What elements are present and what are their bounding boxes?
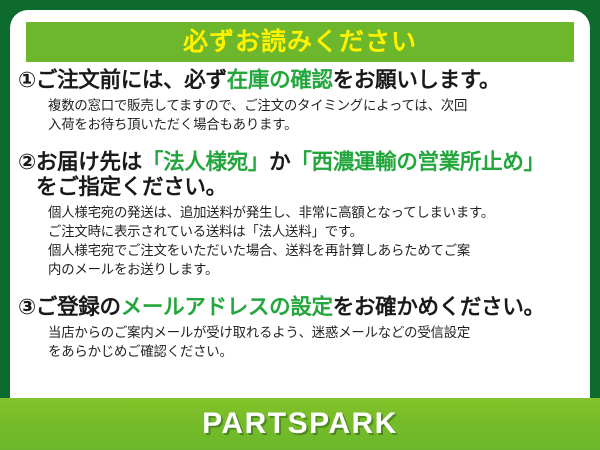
item-3-heading-part-3: をお確かめください。 — [333, 295, 545, 319]
item-1-heading-part-1: ご注文前には、必ず — [36, 68, 227, 92]
item-2-heading-highlight-1: 「法人様宛」 — [142, 150, 269, 174]
item-1-heading-highlight: 在庫の確認 — [227, 68, 333, 92]
item-3-body-line-1: 当店からのご案内メールが受け取れるよう、迷惑メールなどの受信設定 — [48, 323, 584, 342]
item-2-body-line-3: 個人様宅宛でご注文をいただいた場合、送料を再計算しあらためてご案 — [48, 241, 584, 260]
footer-banner: PARTSPARK — [0, 398, 600, 450]
notice-card: 必ずお読みください ①ご注文前には、必ず在庫の確認をお願いします。 複数の窓口で… — [0, 0, 600, 450]
item-1-heading-part-3: をお願いします。 — [333, 68, 500, 92]
notice-body: ①ご注文前には、必ず在庫の確認をお願いします。 複数の窓口で販売してますので、ご… — [10, 68, 590, 361]
item-1-body-line-2: 入荷をお待ち頂いただく場合もあります。 — [48, 115, 584, 134]
item-2-marker: ② — [18, 150, 36, 174]
notice-item-3: ③ご登録のメールアドレスの設定をお確かめください。 当店からのご案内メールが受け… — [10, 295, 590, 361]
item-3-heading-highlight: メールアドレスの設定 — [121, 295, 333, 319]
item-2-body-line-4: 内のメールをお送りします。 — [48, 260, 584, 279]
header-banner: 必ずお読みください — [26, 22, 574, 62]
item-1-body: 複数の窓口で販売してますので、ご注文のタイミングによっては、次回 入荷をお待ち頂… — [18, 96, 584, 134]
page-title: 必ずお読みください — [183, 30, 417, 55]
item-3-heading-part-1: ご登録の — [36, 295, 121, 319]
item-2-body-line-1: 個人様宅宛の発送は、追加送料が発生し、非常に高額となってしまいます。 — [48, 203, 584, 222]
item-3-marker: ③ — [18, 295, 36, 319]
item-3-body: 当店からのご案内メールが受け取れるよう、迷惑メールなどの受信設定 をあらかじめご… — [18, 323, 584, 361]
item-1-marker: ① — [18, 68, 36, 92]
item-3-body-line-2: をあらかじめご確認ください。 — [48, 342, 584, 361]
notice-panel: 必ずお読みください ①ご注文前には、必ず在庫の確認をお願いします。 複数の窓口で… — [10, 10, 590, 408]
item-2-body-line-2: ご注文時に表示されている送料は「法人送料」です。 — [48, 222, 584, 241]
item-2-heading: ②お届け先は「法人様宛」か「西濃運輸の営業所止め」 をご指定ください。 — [18, 150, 584, 200]
item-2-heading-part-1: お届け先は — [36, 150, 142, 174]
brand-wordmark: PARTSPARK — [202, 409, 398, 439]
item-1-heading: ①ご注文前には、必ず在庫の確認をお願いします。 — [18, 68, 584, 93]
item-2-heading-continuation: をご指定ください。 — [18, 175, 584, 200]
item-2-heading-part-3: か — [269, 150, 290, 174]
item-3-heading: ③ご登録のメールアドレスの設定をお確かめください。 — [18, 295, 584, 320]
item-2-body: 個人様宅宛の発送は、追加送料が発生し、非常に高額となってしまいます。 ご注文時に… — [18, 203, 584, 279]
notice-item-1: ①ご注文前には、必ず在庫の確認をお願いします。 複数の窓口で販売してますので、ご… — [10, 68, 590, 134]
item-2-heading-highlight-2: 「西濃運輸の営業所止め」 — [290, 150, 544, 174]
item-1-body-line-1: 複数の窓口で販売してますので、ご注文のタイミングによっては、次回 — [48, 96, 584, 115]
notice-item-2: ②お届け先は「法人様宛」か「西濃運輸の営業所止め」 をご指定ください。 個人様宅… — [10, 150, 590, 279]
